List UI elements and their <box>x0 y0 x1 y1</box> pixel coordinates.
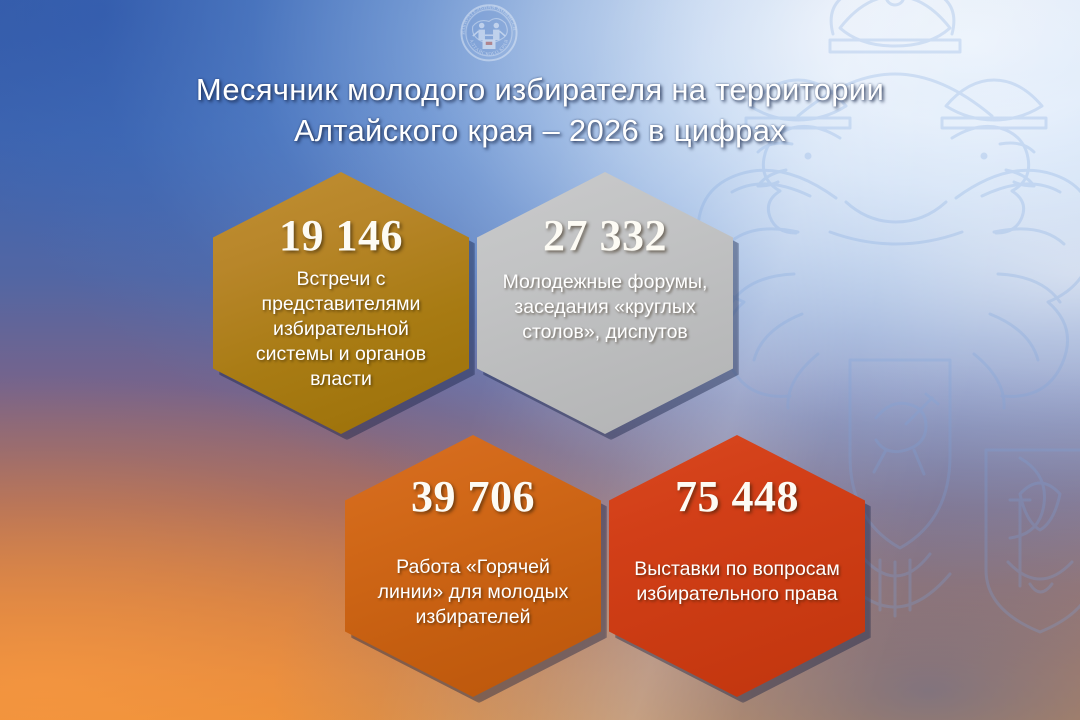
stat-label: Работа «Горячей линии» для молодых избир… <box>364 555 583 630</box>
slide-canvas: ИЗБИРАТЕЛЬНАЯ КОМИССИЯ АЛТАЙСКОГО КРАЯ М… <box>0 0 1080 720</box>
statistics-hex-grid: 19 146 Встречи с представителями избират… <box>0 0 1080 720</box>
stat-label: Встречи с представителями избирательной … <box>242 267 440 392</box>
stat-value: 39 706 <box>411 475 535 519</box>
stat-label: Выставки по вопросам избирательного прав… <box>620 557 854 607</box>
stat-label: Молодежные форумы, заседания «круглых ст… <box>489 270 722 345</box>
stat-value: 19 146 <box>279 214 403 258</box>
stat-value: 75 448 <box>675 475 799 519</box>
stat-value: 27 332 <box>543 214 667 258</box>
